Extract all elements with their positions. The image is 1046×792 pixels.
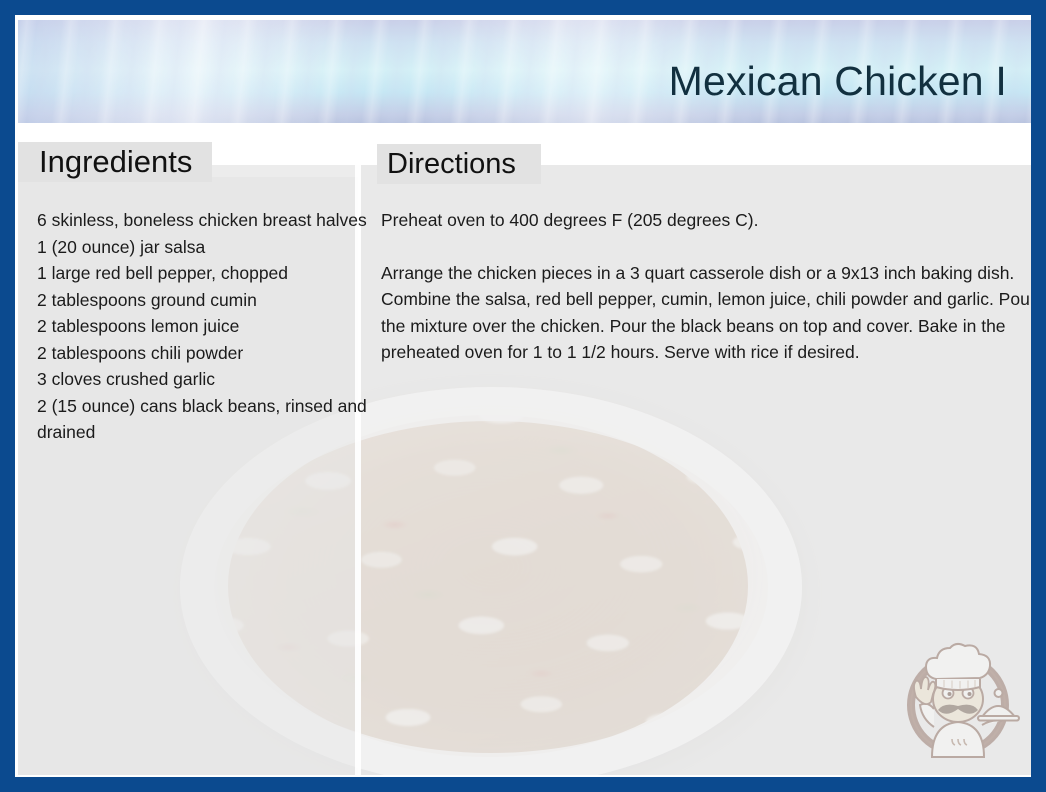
card-inner: Mexican Chicken I Ingredients Directions…	[15, 15, 1031, 777]
direction-step: Preheat oven to 400 degrees F (205 degre…	[381, 207, 1041, 234]
directions-body: Preheat oven to 400 degrees F (205 degre…	[381, 207, 1041, 366]
directions-heading-label: Directions	[387, 148, 516, 180]
list-item: 2 tablespoons lemon juice	[37, 313, 367, 340]
directions-heading-tab: Directions	[377, 144, 541, 184]
page-title: Mexican Chicken I	[669, 58, 1007, 105]
ingredients-heading-label: Ingredients	[39, 144, 192, 179]
list-item: 6 skinless, boneless chicken breast halv…	[37, 207, 367, 234]
ingredients-heading-tab: Ingredients	[18, 142, 212, 182]
list-item: 1 (20 ounce) jar salsa	[37, 234, 367, 261]
direction-step: Arrange the chicken pieces in a 3 quart …	[381, 260, 1041, 366]
list-item: 2 (15 ounce) cans black beans, rinsed an…	[37, 393, 367, 446]
list-item: 2 tablespoons chili powder	[37, 340, 367, 367]
title-banner: Mexican Chicken I	[18, 20, 1031, 123]
list-item: 3 cloves crushed garlic	[37, 366, 367, 393]
list-item: 2 tablespoons ground cumin	[37, 287, 367, 314]
list-item: 1 large red bell pepper, chopped	[37, 260, 367, 287]
ingredients-list: 6 skinless, boneless chicken breast halv…	[37, 207, 367, 446]
recipe-card: Mexican Chicken I Ingredients Directions…	[0, 0, 1046, 792]
